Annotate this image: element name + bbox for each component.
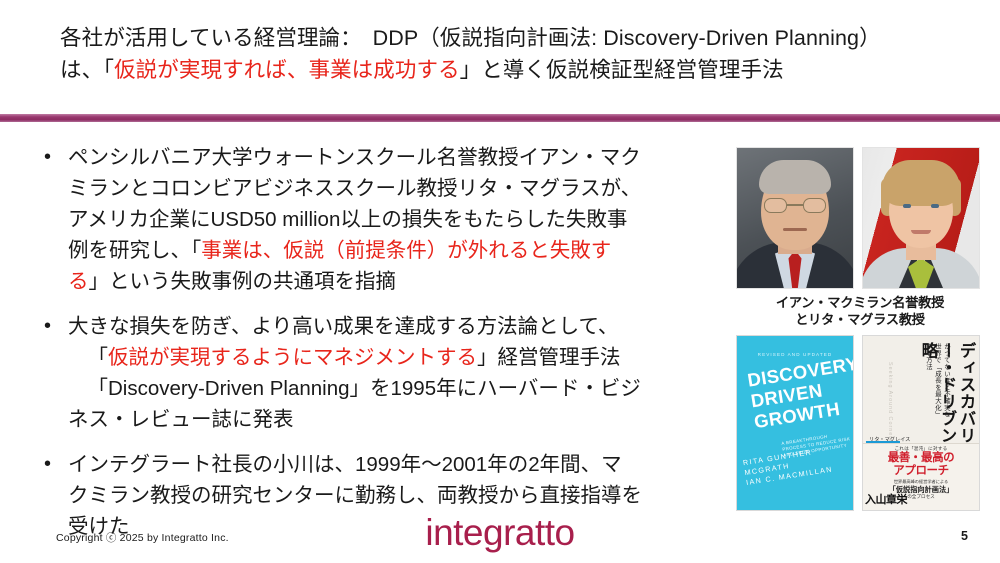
book-cover-row: REVISED AND UPDATED DISCOVERY- DRIVEN GR…	[736, 335, 984, 511]
portrait-caption: イアン・マクミラン名誉教授 とリタ・マグラス教授	[736, 294, 984, 328]
bullet-1-line-5: る」という失敗事例の共通項を指摘	[68, 266, 728, 297]
book-cover-discovery-driven-growth: REVISED AND UPDATED DISCOVERY- DRIVEN GR…	[736, 335, 854, 511]
bullet-1-line-3: アメリカ企業にUSD50 million以上の損失をもたらした失敗事	[68, 204, 728, 235]
book-en-authors: RITA GUNTHER MCGRATH IAN C. MACMILLAN	[742, 442, 849, 488]
book-jp-commentator: 入山章栄	[865, 491, 907, 507]
book-en-title: DISCOVERY- DRIVEN GROWTH	[746, 354, 854, 432]
bullet-3-line-2: クミラン教授の研究センターに勤務し、両教授から直接指導を	[68, 480, 728, 511]
eye-right	[931, 204, 939, 208]
book-jp-ghost-subtitle: Seeking Around Corners	[887, 362, 893, 443]
integratto-logo: integratto	[425, 513, 574, 553]
slide-canvas: 各社が活用している経営理論： DDP（仮説指向計画法: Discovery-Dr…	[0, 0, 1000, 563]
bullet-2-line-2-highlight: 仮説が実現するようにマネジメントする	[108, 346, 477, 369]
book-jp-lead: かつてないほど不確実な世界で「成長を最大化」する方法	[924, 343, 951, 419]
bullet-2-line-2-post: 」経営管理手法	[477, 346, 621, 369]
title-line-2-post: 」と導く仮説検証型経営管理手法	[460, 58, 784, 82]
bullet-item-1: • ペンシルバニア大学ウォートンスクール名誉教授イアン・マク ミランとコロンビア…	[38, 142, 728, 297]
mouth-shape	[783, 228, 807, 231]
bullet-item-2: • 大きな損失を防ぎ、より高い成果を達成する方法論として、 「仮説が実現するよう…	[38, 311, 728, 435]
copyright-text: Copyright ⓒ 2025 by Integratto Inc.	[56, 530, 229, 545]
bullet-marker: •	[44, 449, 51, 480]
book-cover-discovery-driven-senryaku: Discovery Seeking Around Corners ディスカバリー…	[862, 335, 980, 511]
bullet-marker: •	[44, 311, 51, 342]
book-jp-obi-big-2: アプローチ	[863, 465, 979, 478]
mouth-shape	[911, 230, 931, 234]
page-number: 5	[961, 529, 968, 543]
portrait-caption-line-1: イアン・マクミラン名誉教授	[736, 294, 984, 311]
bullet-2-line-2: 「仮説が実現するようにマネジメントする」経営管理手法	[68, 342, 728, 373]
portrait-rita-mcgrath	[862, 147, 980, 289]
bullet-1-line-4: 例を研究し、「事業は、仮説（前提条件）が外れると失敗す	[68, 235, 728, 266]
bullet-1-line-2: ミランとコロンビアビジネススクール教授リタ・マグラスが、	[68, 173, 728, 204]
hair-shape	[759, 160, 831, 194]
bullet-1-line-1: ペンシルバニア大学ウォートンスクール名誉教授イアン・マク	[68, 142, 728, 173]
bullet-2-line-1: 大きな損失を防ぎ、より高い成果を達成する方法論として、	[68, 311, 728, 342]
bullet-2-line-2-pre: 「	[87, 346, 108, 369]
title-line-1: 各社が活用している経営理論： DDP（仮説指向計画法: Discovery-Dr…	[60, 22, 970, 54]
bullet-3-line-1: インテグラート社長の小川は、1999年～2001年の2年間、マ	[68, 449, 728, 480]
title-line-2: は、「仮説が実現すれば、事業は成功する」と導く仮説検証型経営管理手法	[60, 54, 970, 86]
bullet-1-line-4-highlight: 事業は、仮説（前提条件）が外れると失敗す	[201, 239, 611, 262]
eye-left	[903, 204, 911, 208]
portrait-row	[736, 147, 984, 289]
portrait-caption-line-2: とリタ・マグラス教授	[736, 311, 984, 328]
bullet-1-line-5-post: 」という失敗事例の共通項を指摘	[89, 270, 397, 293]
bullet-marker: •	[44, 142, 51, 173]
book-jp-obi-big-1: 最善・最高の	[863, 452, 979, 465]
bullet-1-line-5-highlight: る	[68, 270, 89, 293]
slide-title: 各社が活用している経営理論： DDP（仮説指向計画法: Discovery-Dr…	[60, 22, 970, 86]
bullet-2-line-3: 「Discovery-Driven Planning」を1995年にハーバード・…	[68, 373, 728, 404]
portrait-ian-macmillan	[736, 147, 854, 289]
glasses-icon	[764, 198, 826, 213]
bullet-1-line-4-pre: 例を研究し、「	[68, 239, 201, 262]
bullet-item-3: • インテグラート社長の小川は、1999年～2001年の2年間、マ クミラン教授…	[38, 449, 728, 542]
hair-shape	[882, 160, 960, 206]
bullet-2-line-4: ネス・レビュー誌に発表	[68, 404, 728, 435]
header-divider	[0, 114, 1000, 122]
media-column: イアン・マクミラン名誉教授 とリタ・マグラス教授 REVISED AND UPD…	[736, 147, 984, 511]
title-line-2-highlight: 仮説が実現すれば、事業は成功する	[114, 58, 460, 82]
body-bullet-list: • ペンシルバニア大学ウォートンスクール名誉教授イアン・マク ミランとコロンビア…	[38, 142, 728, 556]
title-line-2-pre: は、「	[60, 58, 114, 82]
